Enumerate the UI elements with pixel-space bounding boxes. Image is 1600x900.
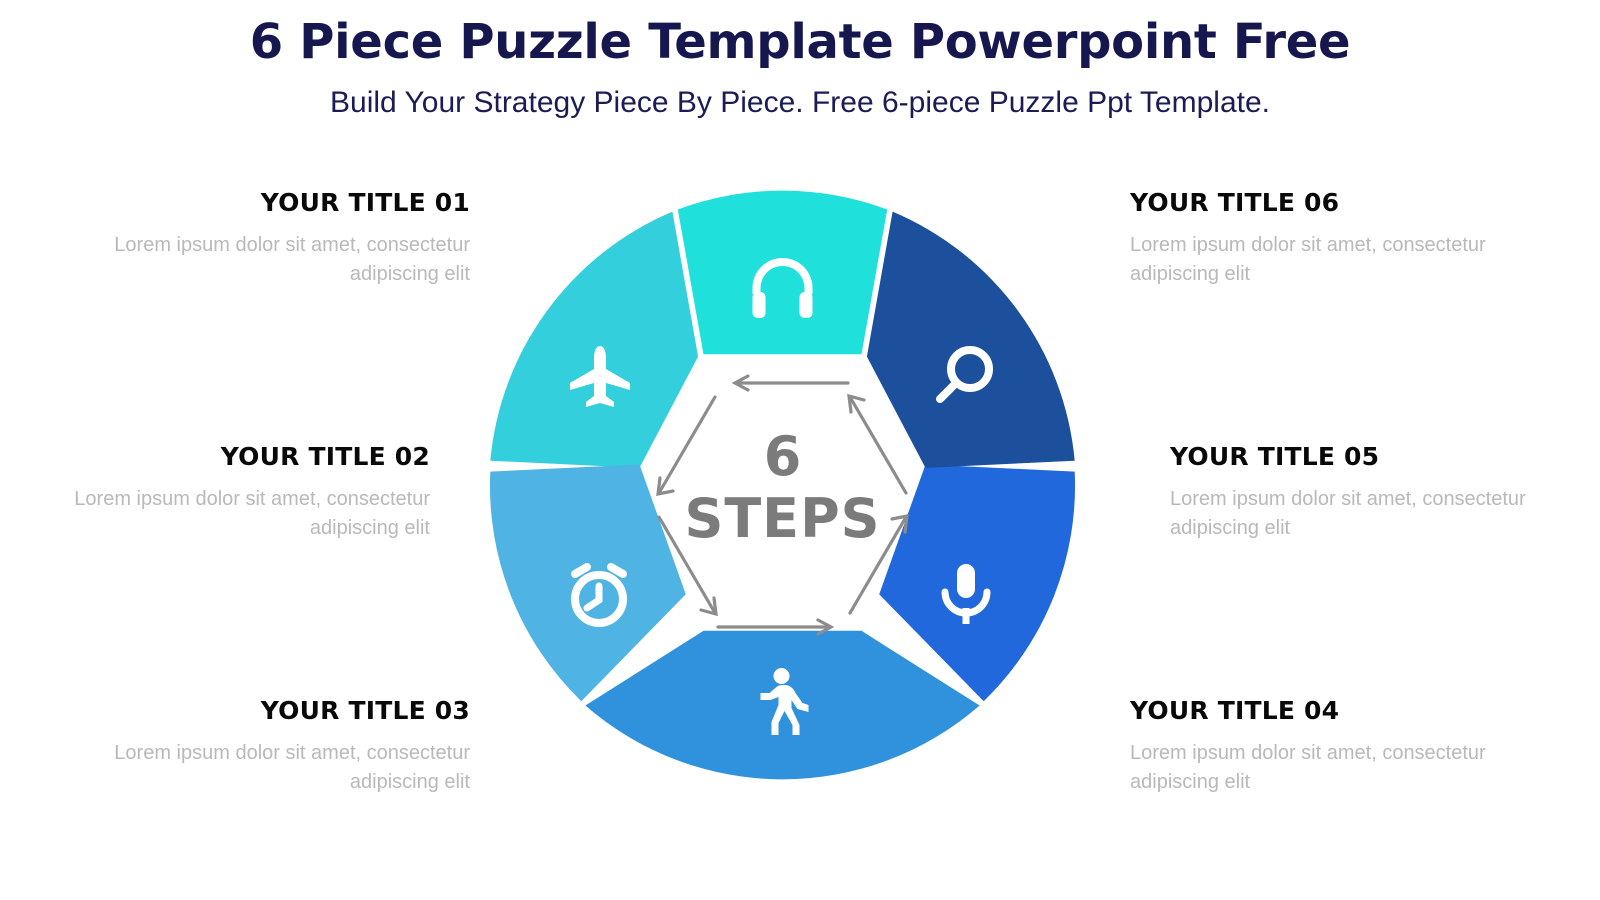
label-desc-02: Lorem ipsum dolor sit amet, consectetur …: [70, 485, 430, 543]
puzzle-wheel: 6 STEPS: [470, 180, 1095, 805]
label-block-04[interactable]: YOUR TITLE 04 Lorem ipsum dolor sit amet…: [1130, 696, 1490, 797]
label-block-02[interactable]: YOUR TITLE 02 Lorem ipsum dolor sit amet…: [70, 442, 430, 543]
label-title-06: YOUR TITLE 06: [1130, 188, 1490, 217]
label-desc-05: Lorem ipsum dolor sit amet, consectetur …: [1170, 485, 1530, 543]
header: 6 Piece Puzzle Template Powerpoint Free …: [0, 0, 1600, 121]
label-desc-01: Lorem ipsum dolor sit amet, consectetur …: [110, 231, 470, 289]
wheel-segment-02-shape[interactable]: [490, 212, 698, 468]
wheel-segment-06-shape[interactable]: [867, 212, 1075, 468]
page-subtitle: Build Your Strategy Piece By Piece. Free…: [0, 85, 1600, 121]
center-number: 6: [764, 425, 802, 488]
label-title-01: YOUR TITLE 01: [110, 188, 470, 217]
label-title-05: YOUR TITLE 05: [1170, 442, 1530, 471]
wheel-segment-04[interactable]: [585, 631, 979, 780]
wheel-segment-02[interactable]: [490, 212, 698, 468]
center-word: STEPS: [684, 487, 880, 550]
puzzle-wheel-svg: 6 STEPS: [470, 180, 1095, 805]
label-block-01[interactable]: YOUR TITLE 01 Lorem ipsum dolor sit amet…: [110, 188, 470, 289]
wheel-segment-01[interactable]: [678, 191, 887, 355]
label-block-03[interactable]: YOUR TITLE 03 Lorem ipsum dolor sit amet…: [110, 696, 470, 797]
wheel-segment-06[interactable]: [867, 212, 1075, 468]
flow-arrow-top: [735, 376, 848, 390]
label-title-03: YOUR TITLE 03: [110, 696, 470, 725]
page-title: 6 Piece Puzzle Template Powerpoint Free: [0, 14, 1600, 71]
label-desc-06: Lorem ipsum dolor sit amet, consectetur …: [1130, 231, 1490, 289]
label-desc-03: Lorem ipsum dolor sit amet, consectetur …: [110, 739, 470, 797]
label-block-06[interactable]: YOUR TITLE 06 Lorem ipsum dolor sit amet…: [1130, 188, 1490, 289]
label-title-04: YOUR TITLE 04: [1130, 696, 1490, 725]
label-title-02: YOUR TITLE 02: [70, 442, 430, 471]
wheel-segment-01-shape[interactable]: [678, 191, 887, 355]
label-block-05[interactable]: YOUR TITLE 05 Lorem ipsum dolor sit amet…: [1170, 442, 1530, 543]
label-desc-04: Lorem ipsum dolor sit amet, consectetur …: [1130, 739, 1490, 797]
